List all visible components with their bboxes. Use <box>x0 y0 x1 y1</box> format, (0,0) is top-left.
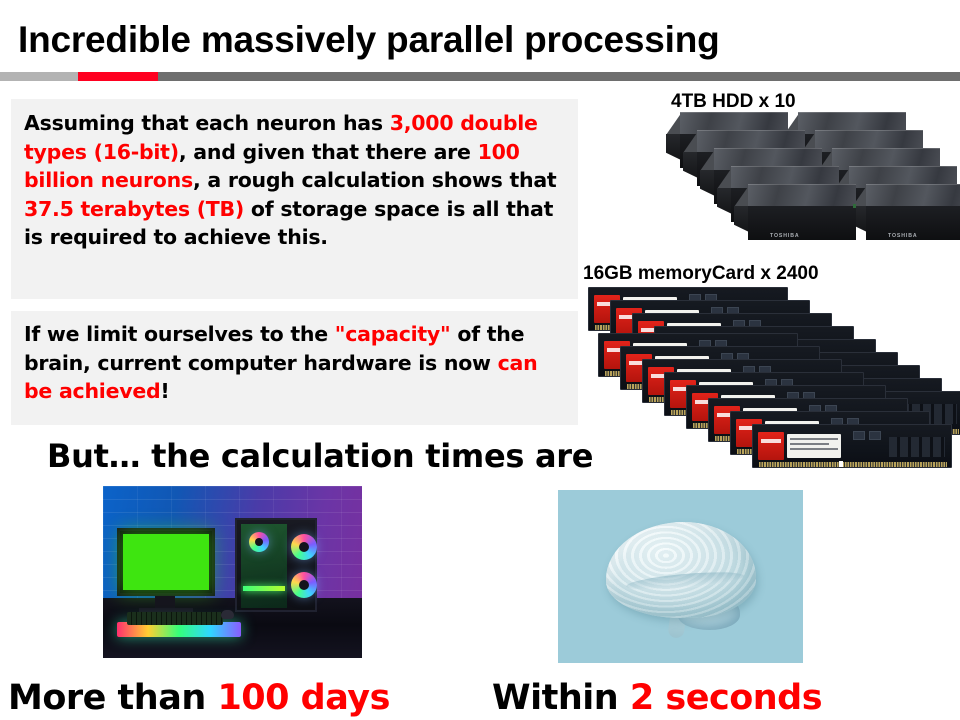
hdd-unit: TOSHIBA <box>852 184 960 240</box>
hdd-brand-label: TOSHIBA <box>770 233 800 239</box>
pc-monitor <box>117 528 215 596</box>
capacity-conclusion-panel: If we limit ourselves to the "capacity" … <box>11 311 578 425</box>
memory-card-caption: 16GB memoryCard x 2400 <box>583 263 819 285</box>
ram-chip-row <box>889 437 945 457</box>
hdd-unit: TOSHIBA <box>734 184 856 240</box>
brain-time-lead: Within <box>492 678 630 718</box>
divider-segment-dark <box>158 72 960 81</box>
ram-pins <box>759 462 947 467</box>
title-divider <box>0 72 960 81</box>
text-segment: Assuming that each neuron has <box>24 111 390 135</box>
hdd-top <box>748 184 856 207</box>
brain-time-caption: Within 2 seconds <box>492 678 822 718</box>
storage-explanation-panel: Assuming that each neuron has 3,000 doub… <box>11 99 578 299</box>
hdd-side <box>683 152 698 178</box>
hdd-side <box>734 206 749 232</box>
computer-time-lead: More than <box>8 678 217 718</box>
page-title: Incredible massively parallel processing <box>18 18 938 62</box>
brain-cerebrum <box>606 522 756 618</box>
text-segment: , and given that there are <box>179 140 478 164</box>
computer-time-caption: More than 100 days <box>8 678 390 718</box>
hdd-side <box>700 170 715 196</box>
ram-module <box>752 424 952 468</box>
computer-time-value: 100 days <box>217 678 390 718</box>
pc-monitor-screen <box>123 534 209 590</box>
pc-fan <box>249 532 269 552</box>
memory-module-stack-image <box>588 287 960 477</box>
pc-keyboard <box>127 612 223 625</box>
hdd-port-accent <box>853 204 856 208</box>
pc-tower <box>235 518 317 612</box>
ram-chip <box>869 431 881 440</box>
ram-notch <box>839 461 843 467</box>
text-segment-highlight: "capacity" <box>335 322 451 346</box>
pc-fan <box>291 534 317 560</box>
brain-image <box>558 490 803 663</box>
divider-segment-light <box>0 72 78 81</box>
text-segment: , a rough calculation shows that <box>193 168 557 192</box>
ram-chip <box>853 431 865 440</box>
pc-mouse <box>221 610 234 619</box>
text-segment-highlight: 37.5 terabytes (TB) <box>24 197 244 221</box>
pc-fan <box>291 572 317 598</box>
hdd-front: TOSHIBA <box>748 206 856 240</box>
hdd-front: TOSHIBA <box>866 206 960 240</box>
hdd-stack-image: TOSHIBA TOSHIBA TOSHIBA TOSHIBA TOSHIBA … <box>620 110 940 260</box>
ram-brand-label <box>758 432 784 460</box>
text-segment: If we limit ourselves to the <box>24 322 335 346</box>
hdd-side <box>666 134 681 160</box>
hdd-top <box>866 184 960 207</box>
hdd-side <box>717 188 732 214</box>
text-segment: ! <box>160 379 169 403</box>
gaming-pc-image <box>103 486 362 658</box>
divider-segment-accent <box>78 72 158 81</box>
hdd-brand-label: TOSHIBA <box>888 233 918 239</box>
transition-line: But… the calculation times are <box>47 437 593 475</box>
brain-time-value: 2 seconds <box>630 678 822 718</box>
pc-rgb-strip <box>243 586 285 591</box>
ram-spec-sticker <box>787 434 841 458</box>
brain-gyri-texture <box>606 522 756 618</box>
